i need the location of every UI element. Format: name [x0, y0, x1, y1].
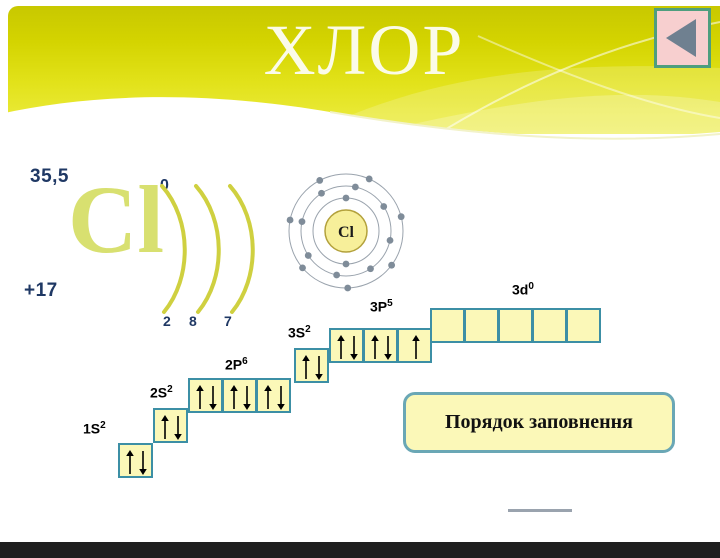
orbital-box	[188, 378, 223, 413]
orbital-box-arrows	[224, 380, 255, 411]
electron-dot	[318, 190, 325, 197]
orbital-label-1s: 1S2	[83, 420, 106, 437]
orbital-box-arrows	[331, 330, 362, 361]
orbital-label-text: 3P	[370, 299, 387, 315]
electron-dot	[305, 252, 312, 259]
electron-dot	[343, 261, 350, 268]
orbital-box	[256, 378, 291, 413]
orbital-box-arrows	[258, 380, 289, 411]
orbital-box-arrows	[120, 445, 151, 476]
orbital-box-arrows	[399, 330, 430, 361]
orbital-box	[222, 378, 257, 413]
orbital-box	[363, 328, 398, 363]
shell-count-3: 7	[224, 313, 232, 329]
orbital-label-superscript: 0	[528, 281, 534, 292]
orbital-label-3d: 3d0	[512, 281, 534, 298]
page-title: ХЛОР	[8, 14, 720, 86]
orbital-label-superscript: 2	[167, 384, 173, 395]
electron-dot	[352, 184, 359, 191]
orbital-label-2p: 2P6	[225, 356, 248, 373]
orbital-box	[118, 443, 153, 478]
electron-dot	[387, 237, 394, 244]
orbital-box	[430, 308, 465, 343]
footer-rule	[508, 509, 572, 512]
orbital-box	[566, 308, 601, 343]
orbital-box-arrows	[466, 310, 497, 341]
orbital-label-superscript: 2	[305, 324, 311, 335]
electron-dot	[316, 177, 323, 184]
orbital-box-arrows	[432, 310, 463, 341]
orbital-box	[329, 328, 364, 363]
orbital-label-superscript: 2	[100, 420, 106, 431]
spin-up-arrow-icon	[229, 385, 239, 410]
electron-dot	[344, 285, 351, 292]
slide-canvas: ХЛОР 35,5 +17 Cl 0 2 8 7 Cl 1S2	[0, 0, 720, 558]
electron-dot	[398, 213, 405, 220]
spin-down-arrow-icon	[208, 385, 218, 410]
spin-up-arrow-icon	[125, 450, 135, 475]
spin-up-arrow-icon	[301, 355, 311, 380]
orbital-label-text: 3S	[288, 325, 305, 341]
orbital-label-superscript: 5	[387, 298, 393, 309]
nucleus-label: Cl	[338, 224, 355, 241]
orbital-box-arrows	[190, 380, 221, 411]
nuclear-charge-label: +17	[24, 280, 58, 302]
back-triangle-icon	[666, 19, 696, 57]
orbital-label-2s: 2S2	[150, 384, 173, 401]
atomic-mass-label: 35,5	[30, 166, 69, 188]
shell-count-2: 8	[189, 313, 197, 329]
orbital-box	[532, 308, 567, 343]
spin-down-arrow-icon	[383, 335, 393, 360]
spin-down-arrow-icon	[314, 355, 324, 380]
orbital-box-arrows	[296, 350, 327, 381]
orbital-label-text: 2S	[150, 385, 167, 401]
orbital-box-arrows	[500, 310, 531, 341]
electron-dot	[366, 176, 373, 183]
spin-down-arrow-icon	[138, 450, 148, 475]
electron-dot	[380, 203, 387, 210]
spin-up-arrow-icon	[370, 335, 380, 360]
spin-up-arrow-icon	[263, 385, 273, 410]
orbital-box	[153, 408, 188, 443]
spin-down-arrow-icon	[242, 385, 252, 410]
orbital-box	[498, 308, 533, 343]
spin-up-arrow-icon	[195, 385, 205, 410]
spin-up-arrow-icon	[411, 335, 421, 360]
orbital-box-arrows	[568, 310, 599, 341]
electron-dot	[388, 262, 395, 269]
electron-dot	[299, 264, 306, 271]
electron-shell-arcs	[150, 178, 270, 318]
shell-count-1: 2	[163, 313, 171, 329]
orbital-box-arrows	[534, 310, 565, 341]
electron-dot	[299, 218, 306, 225]
spin-up-arrow-icon	[160, 415, 170, 440]
back-button[interactable]	[654, 8, 711, 68]
spin-down-arrow-icon	[173, 415, 183, 440]
bottom-bar	[0, 542, 720, 558]
caption-text: Порядок заповнення	[445, 411, 633, 434]
orbital-label-text: 3d	[512, 282, 528, 298]
spin-down-arrow-icon	[276, 385, 286, 410]
orbital-box	[464, 308, 499, 343]
orbital-box-arrows	[365, 330, 396, 361]
orbital-box	[294, 348, 329, 383]
spin-up-arrow-icon	[336, 335, 346, 360]
caption-box: Порядок заповнення	[403, 392, 675, 453]
bohr-model-diagram: Cl	[283, 168, 409, 294]
electron-dot	[343, 195, 350, 202]
orbital-label-text: 2P	[225, 357, 242, 373]
orbital-box-arrows	[155, 410, 186, 441]
electron-dot	[287, 217, 294, 224]
orbital-label-superscript: 6	[242, 356, 248, 367]
orbital-label-text: 1S	[83, 421, 100, 437]
spin-down-arrow-icon	[349, 335, 359, 360]
orbital-label-3s: 3S2	[288, 324, 311, 341]
header-wave-divider	[0, 88, 720, 168]
electron-dot	[367, 265, 374, 272]
orbital-box	[397, 328, 432, 363]
electron-dot	[333, 272, 340, 279]
orbital-label-3p: 3P5	[370, 298, 393, 315]
